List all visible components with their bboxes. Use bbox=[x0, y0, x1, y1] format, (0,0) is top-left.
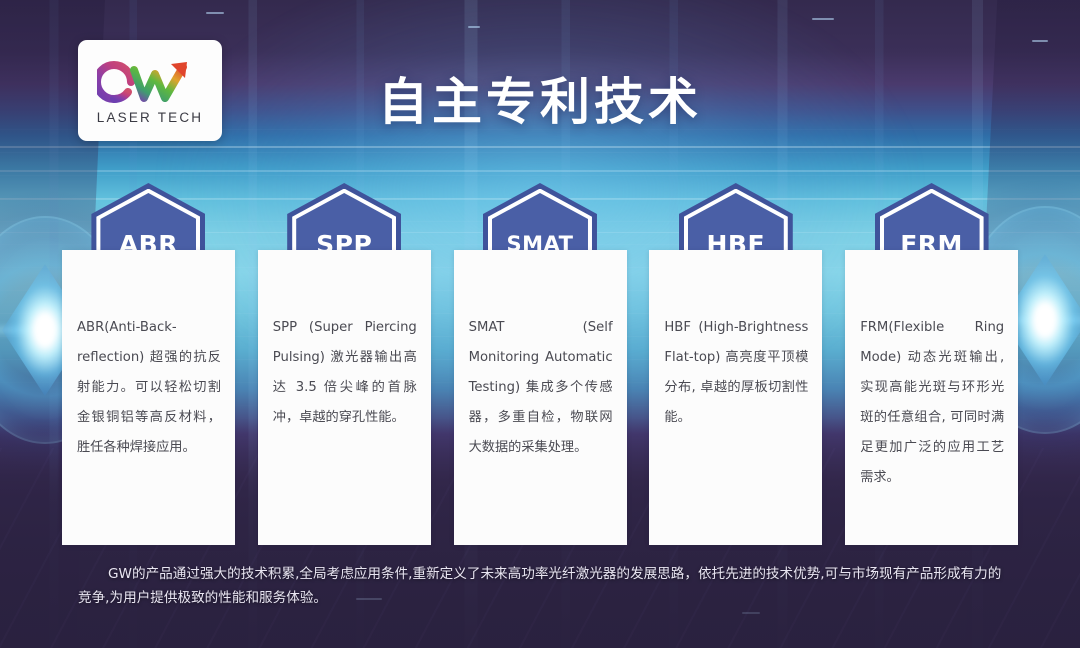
feature-card-body: FRM(Flexible Ring Mode) 动态光斑输出, 实现高能光斑与环… bbox=[860, 313, 1004, 493]
footer-description: GW的产品通过强大的技术积累,全局考虑应用条件,重新定义了未来高功率光纤激光器的… bbox=[78, 562, 1006, 610]
feature-card-hbf: HBF HBF (High-Brightness Flat-top) 高亮度平顶… bbox=[649, 183, 822, 545]
feature-card-panel: FRM(Flexible Ring Mode) 动态光斑输出, 实现高能光斑与环… bbox=[845, 250, 1018, 545]
poster-stage: LASER TECH 自主专利技术 ABR ABR(Anti-Back-refl… bbox=[0, 0, 1080, 648]
feature-card-body: HBF (High-Brightness Flat-top) 高亮度平顶模分布,… bbox=[664, 313, 808, 433]
page-title: 自主专利技术 bbox=[0, 62, 1080, 134]
feature-card-body: ABR(Anti-Back-reflection) 超强的抗反射能力。可以轻松切… bbox=[77, 313, 221, 463]
feature-card-panel: HBF (High-Brightness Flat-top) 高亮度平顶模分布,… bbox=[649, 250, 822, 545]
feature-cards-row: ABR ABR(Anti-Back-reflection) 超强的抗反射能力。可… bbox=[62, 183, 1018, 545]
feature-card-spp: SPP SPP (Super Piercing Pulsing) 激光器输出高达… bbox=[258, 183, 431, 545]
feature-card-abr: ABR ABR(Anti-Back-reflection) 超强的抗反射能力。可… bbox=[62, 183, 235, 545]
feature-card-body: SMAT (Self Monitoring Automatic Testing)… bbox=[469, 313, 613, 463]
feature-card-panel: SMAT (Self Monitoring Automatic Testing)… bbox=[454, 250, 627, 545]
feature-card-body: SPP (Super Piercing Pulsing) 激光器输出高达 3.5… bbox=[273, 313, 417, 433]
feature-card-panel: SPP (Super Piercing Pulsing) 激光器输出高达 3.5… bbox=[258, 250, 431, 545]
feature-card-frm: FRM FRM(Flexible Ring Mode) 动态光斑输出, 实现高能… bbox=[845, 183, 1018, 545]
feature-card-panel: ABR(Anti-Back-reflection) 超强的抗反射能力。可以轻松切… bbox=[62, 250, 235, 545]
feature-card-smat: SMAT SMAT (Self Monitoring Automatic Tes… bbox=[454, 183, 627, 545]
